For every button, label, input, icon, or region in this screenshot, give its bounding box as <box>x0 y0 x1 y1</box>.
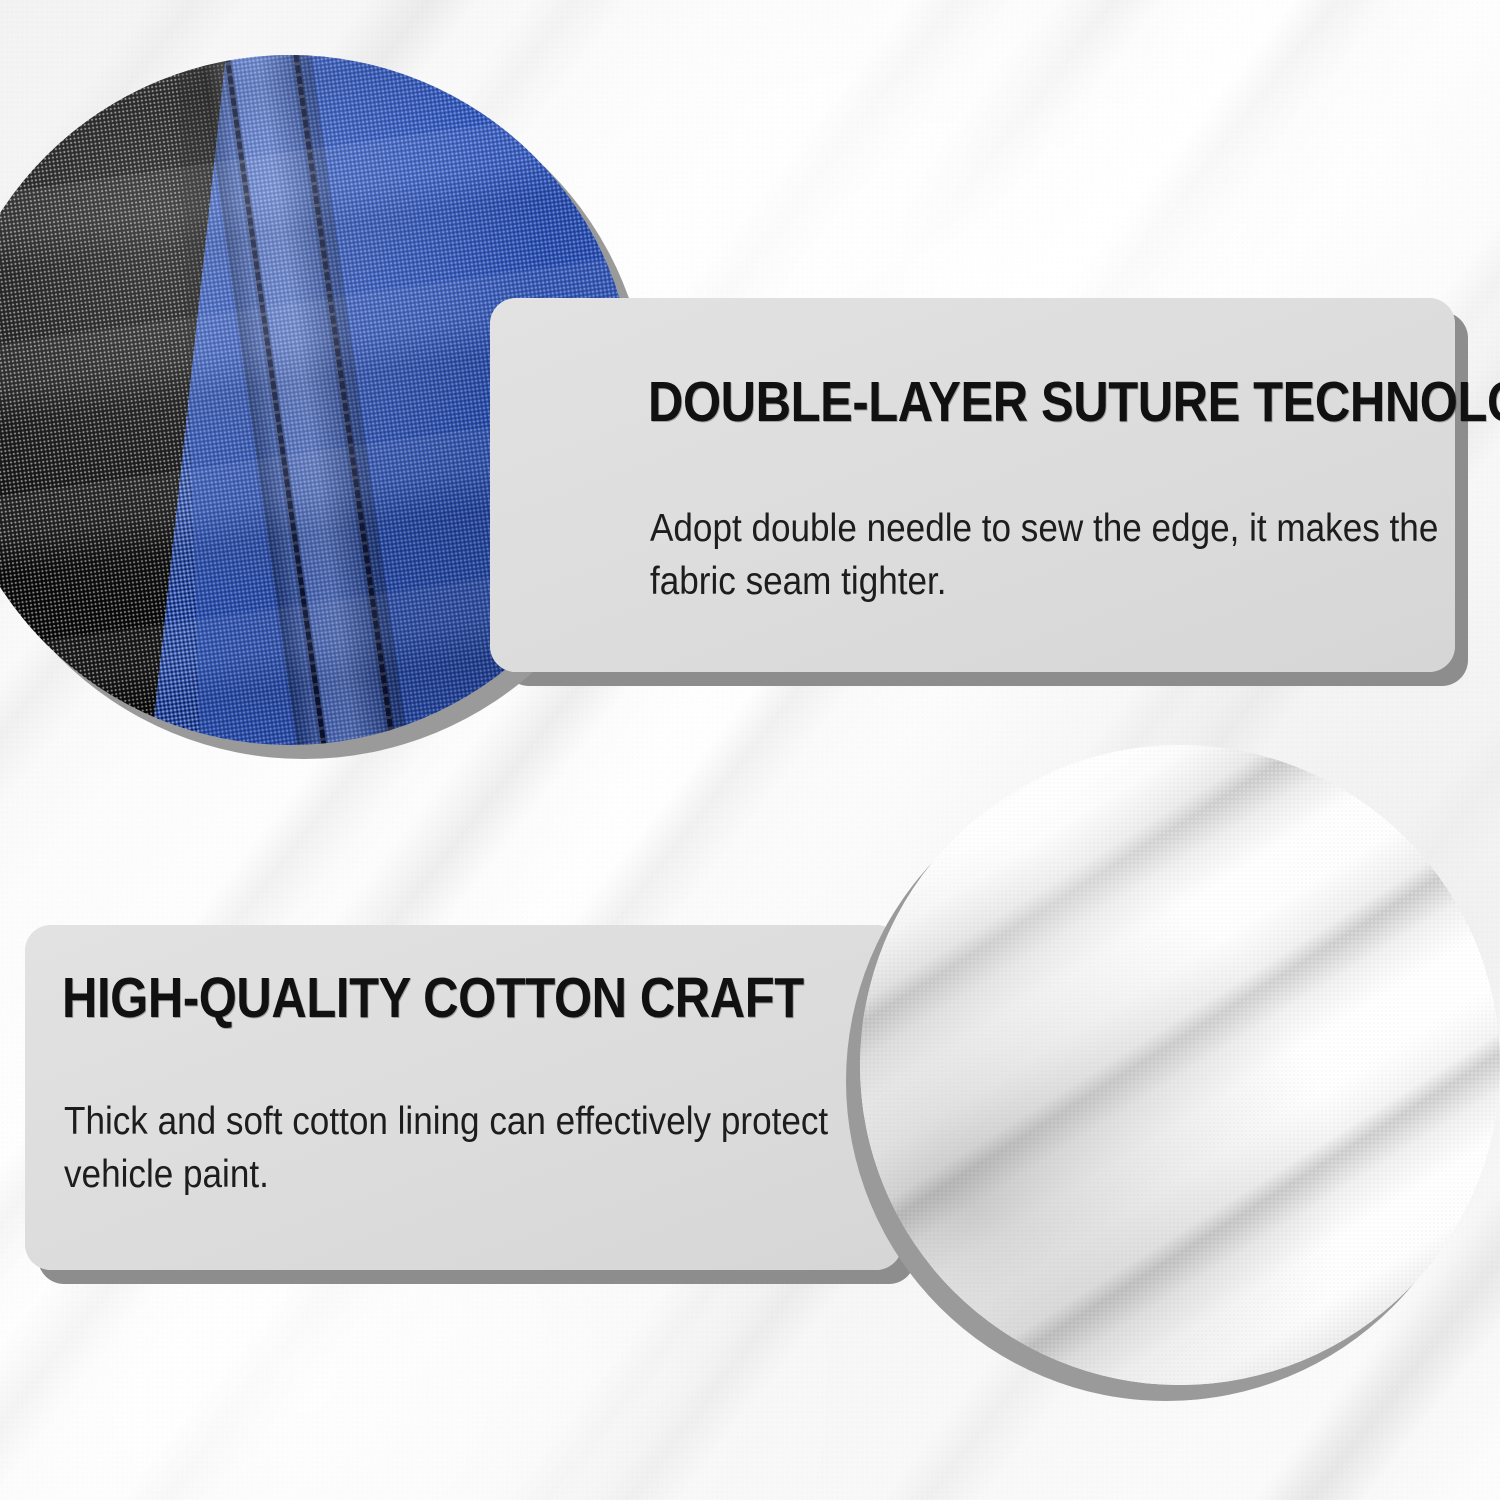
feature-body-high-quality-cotton-craft: Thick and soft cotton lining can effecti… <box>64 1095 919 1201</box>
feature-headline-double-layer-suture: DOUBLE-LAYER SUTURE TECHNOLOGY <box>648 372 1500 432</box>
feature-card-top-surface <box>490 298 1455 672</box>
feature-image-bottom <box>860 745 1500 1385</box>
feature-body-double-layer-suture: Adopt double needle to sew the edge, it … <box>650 502 1478 608</box>
feature-card-top <box>490 298 1455 672</box>
infographic-canvas: DOUBLE-LAYER SUTURE TECHNOLOGY Adopt dou… <box>0 0 1500 1500</box>
cotton-lighting-overlay <box>860 745 1500 1385</box>
feature-headline-high-quality-cotton-craft: HIGH-QUALITY COTTON CRAFT <box>62 968 804 1028</box>
cotton-lining-closeup-image <box>860 745 1500 1385</box>
